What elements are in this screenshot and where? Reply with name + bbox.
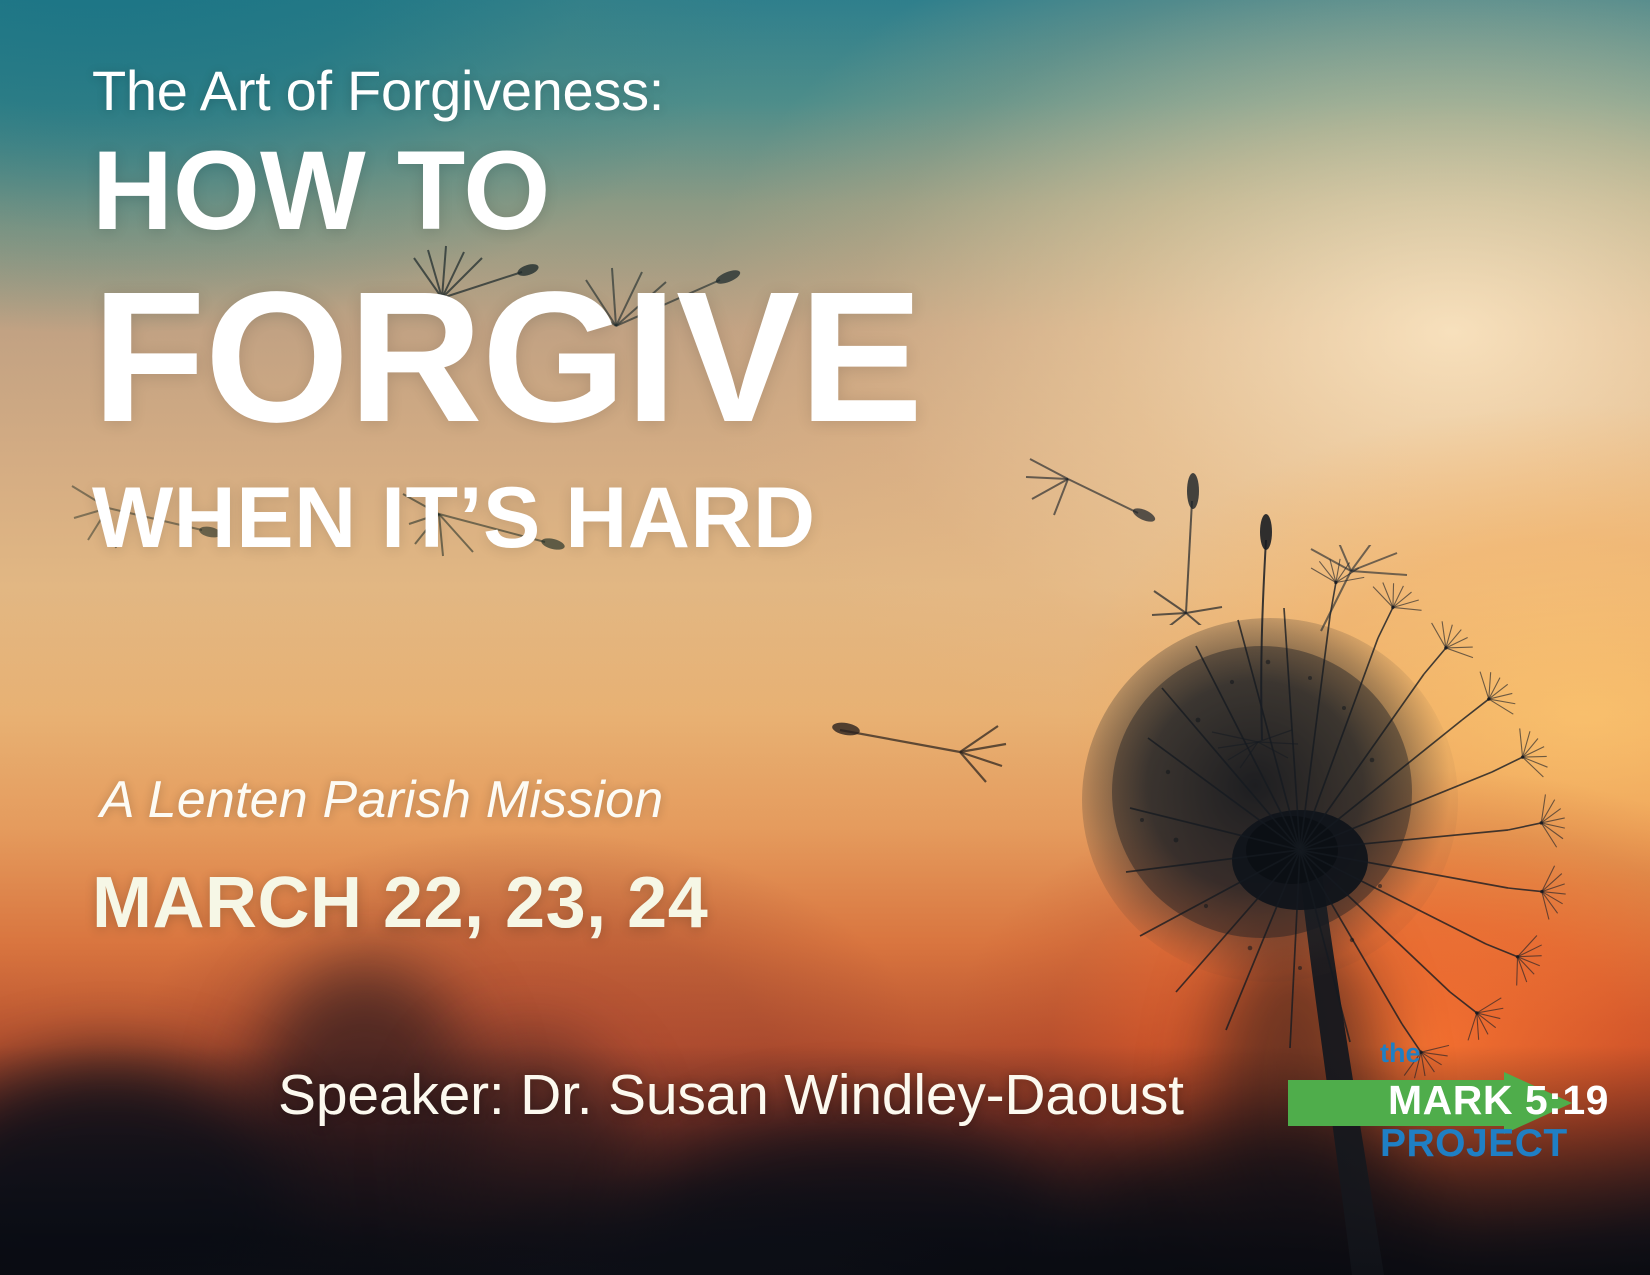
kicker-text: The Art of Forgiveness: [92,62,1142,121]
logo-mark-text: MARK 5:19 [1388,1080,1609,1121]
event-dates-text: MARCH 22, 23, 24 [92,862,708,944]
headline-line-2: FORGIVE [92,265,1142,451]
mark-519-project-logo[interactable]: the MARK 5:19 PROJECT [1328,1040,1628,1168]
logo-the-text: the [1380,1040,1421,1067]
headline-line-1: HOW TO [92,135,1142,247]
logo-project-text: PROJECT [1380,1124,1568,1163]
floating-seed-icon [1255,545,1455,665]
speaker-text: Speaker: Dr. Susan Windley-Daoust [278,1062,1184,1128]
subtitle-text: A Lenten Parish Mission [100,770,663,830]
background-blur-blob [640,1120,1060,1275]
poster-canvas: The Art of Forgiveness: HOW TO FORGIVE W… [0,0,1650,1275]
floating-seed-icon [1150,465,1270,625]
headline-line-3: WHEN IT’S HARD [92,475,1142,561]
floating-seed-icon [800,690,1040,800]
headline-block: The Art of Forgiveness: HOW TO FORGIVE W… [92,62,1142,561]
